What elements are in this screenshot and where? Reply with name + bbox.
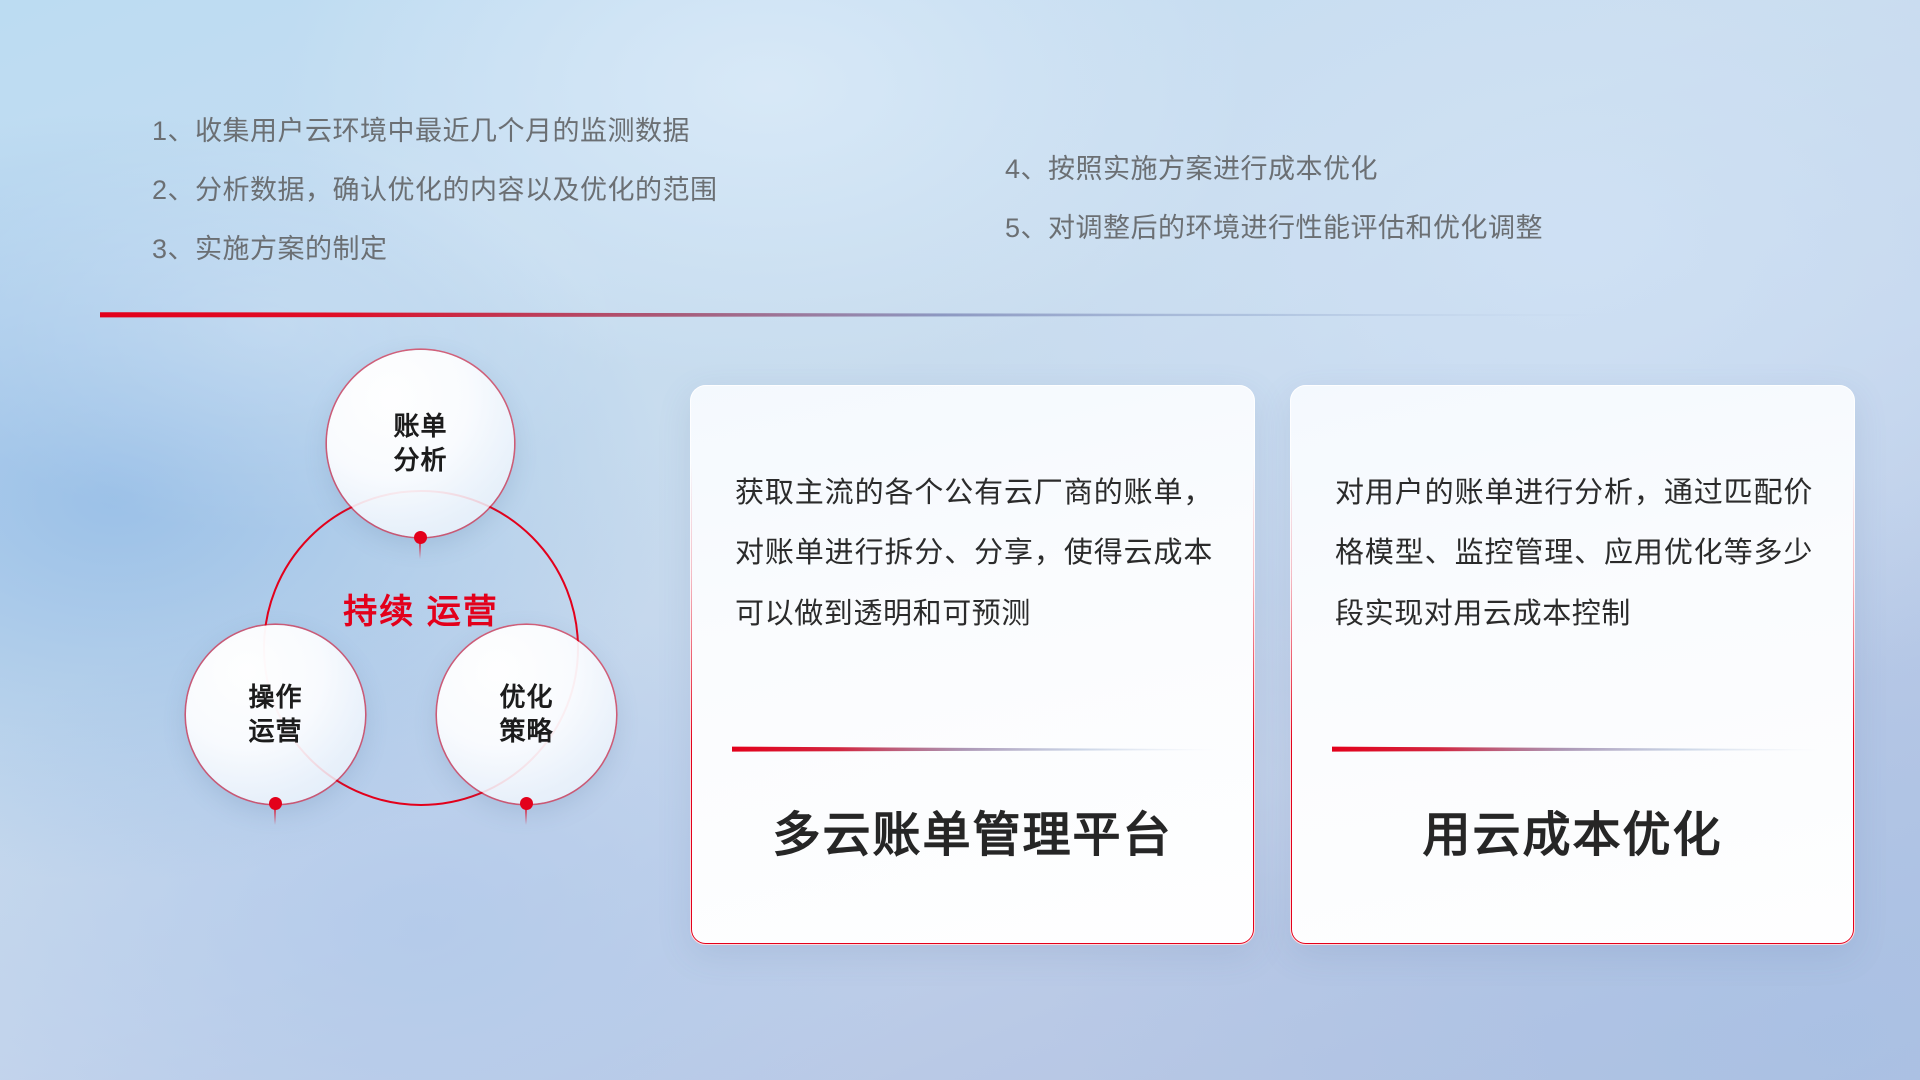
card-title: 多云账单管理平台 bbox=[690, 795, 1255, 865]
card-body-text: 获取主流的各个公有云厂商的账单，对账单进行拆分、分享，使得云成本可以做到透明和可… bbox=[735, 463, 1213, 644]
step-item: 3、实施方案的制定 bbox=[152, 236, 718, 263]
bubble-label-line2: 运营 bbox=[248, 715, 302, 749]
continuous-operation-diagram: 持续 运营 账单 分析 操作 运营 优化 策略 bbox=[100, 350, 660, 950]
diagram-node-dot bbox=[414, 531, 427, 544]
bubble-label-line1: 优化 bbox=[499, 681, 553, 715]
steps-right-column: 4、按照实施方案进行成本优化 5、对调整后的环境进行性能评估和优化调整 bbox=[1005, 156, 1543, 274]
step-item: 1、收集用户云环境中最近几个月的监测数据 bbox=[152, 118, 718, 145]
diagram-bubble-optimization-strategy[interactable]: 优化 策略 bbox=[437, 625, 616, 804]
card-accent-rule bbox=[732, 740, 1219, 747]
card-accent-rule-shape bbox=[732, 746, 1219, 753]
step-item: 4、按照实施方案进行成本优化 bbox=[1005, 156, 1543, 183]
diagram-node-dot bbox=[520, 797, 533, 810]
center-label-line2: 运营 bbox=[427, 593, 499, 631]
diagram-bubble-bill-analysis[interactable]: 账单 分析 bbox=[327, 350, 514, 537]
divider-shape bbox=[100, 310, 1630, 320]
feature-card-multicloud-billing[interactable]: 获取主流的各个公有云厂商的账单，对账单进行拆分、分享，使得云成本可以做到透明和可… bbox=[690, 385, 1255, 945]
diagram-bubble-operations[interactable]: 操作 运营 bbox=[186, 625, 365, 804]
step-item: 2、分析数据，确认优化的内容以及优化的范围 bbox=[152, 177, 718, 204]
diagram-node-dot bbox=[269, 797, 282, 810]
card-accent-rule-shape bbox=[1332, 746, 1819, 753]
card-accent-rule bbox=[1332, 740, 1819, 747]
bubble-label-line1: 操作 bbox=[248, 681, 302, 715]
bubble-label-line2: 策略 bbox=[499, 715, 553, 749]
card-body-text: 对用户的账单进行分析，通过匹配价格模型、监控管理、应用优化等多少段实现对用云成本… bbox=[1335, 463, 1813, 644]
center-label-line1: 持续 bbox=[343, 593, 415, 631]
step-item: 5、对调整后的环境进行性能评估和优化调整 bbox=[1005, 215, 1543, 242]
section-divider bbox=[100, 310, 1630, 320]
steps-left-column: 1、收集用户云环境中最近几个月的监测数据 2、分析数据，确认优化的内容以及优化的… bbox=[152, 118, 718, 295]
bubble-label-line1: 账单 bbox=[393, 410, 447, 444]
card-title: 用云成本优化 bbox=[1290, 795, 1855, 865]
bubble-label-line2: 分析 bbox=[393, 444, 447, 478]
feature-card-cloud-cost-optimization[interactable]: 对用户的账单进行分析，通过匹配价格模型、监控管理、应用优化等多少段实现对用云成本… bbox=[1290, 385, 1855, 945]
